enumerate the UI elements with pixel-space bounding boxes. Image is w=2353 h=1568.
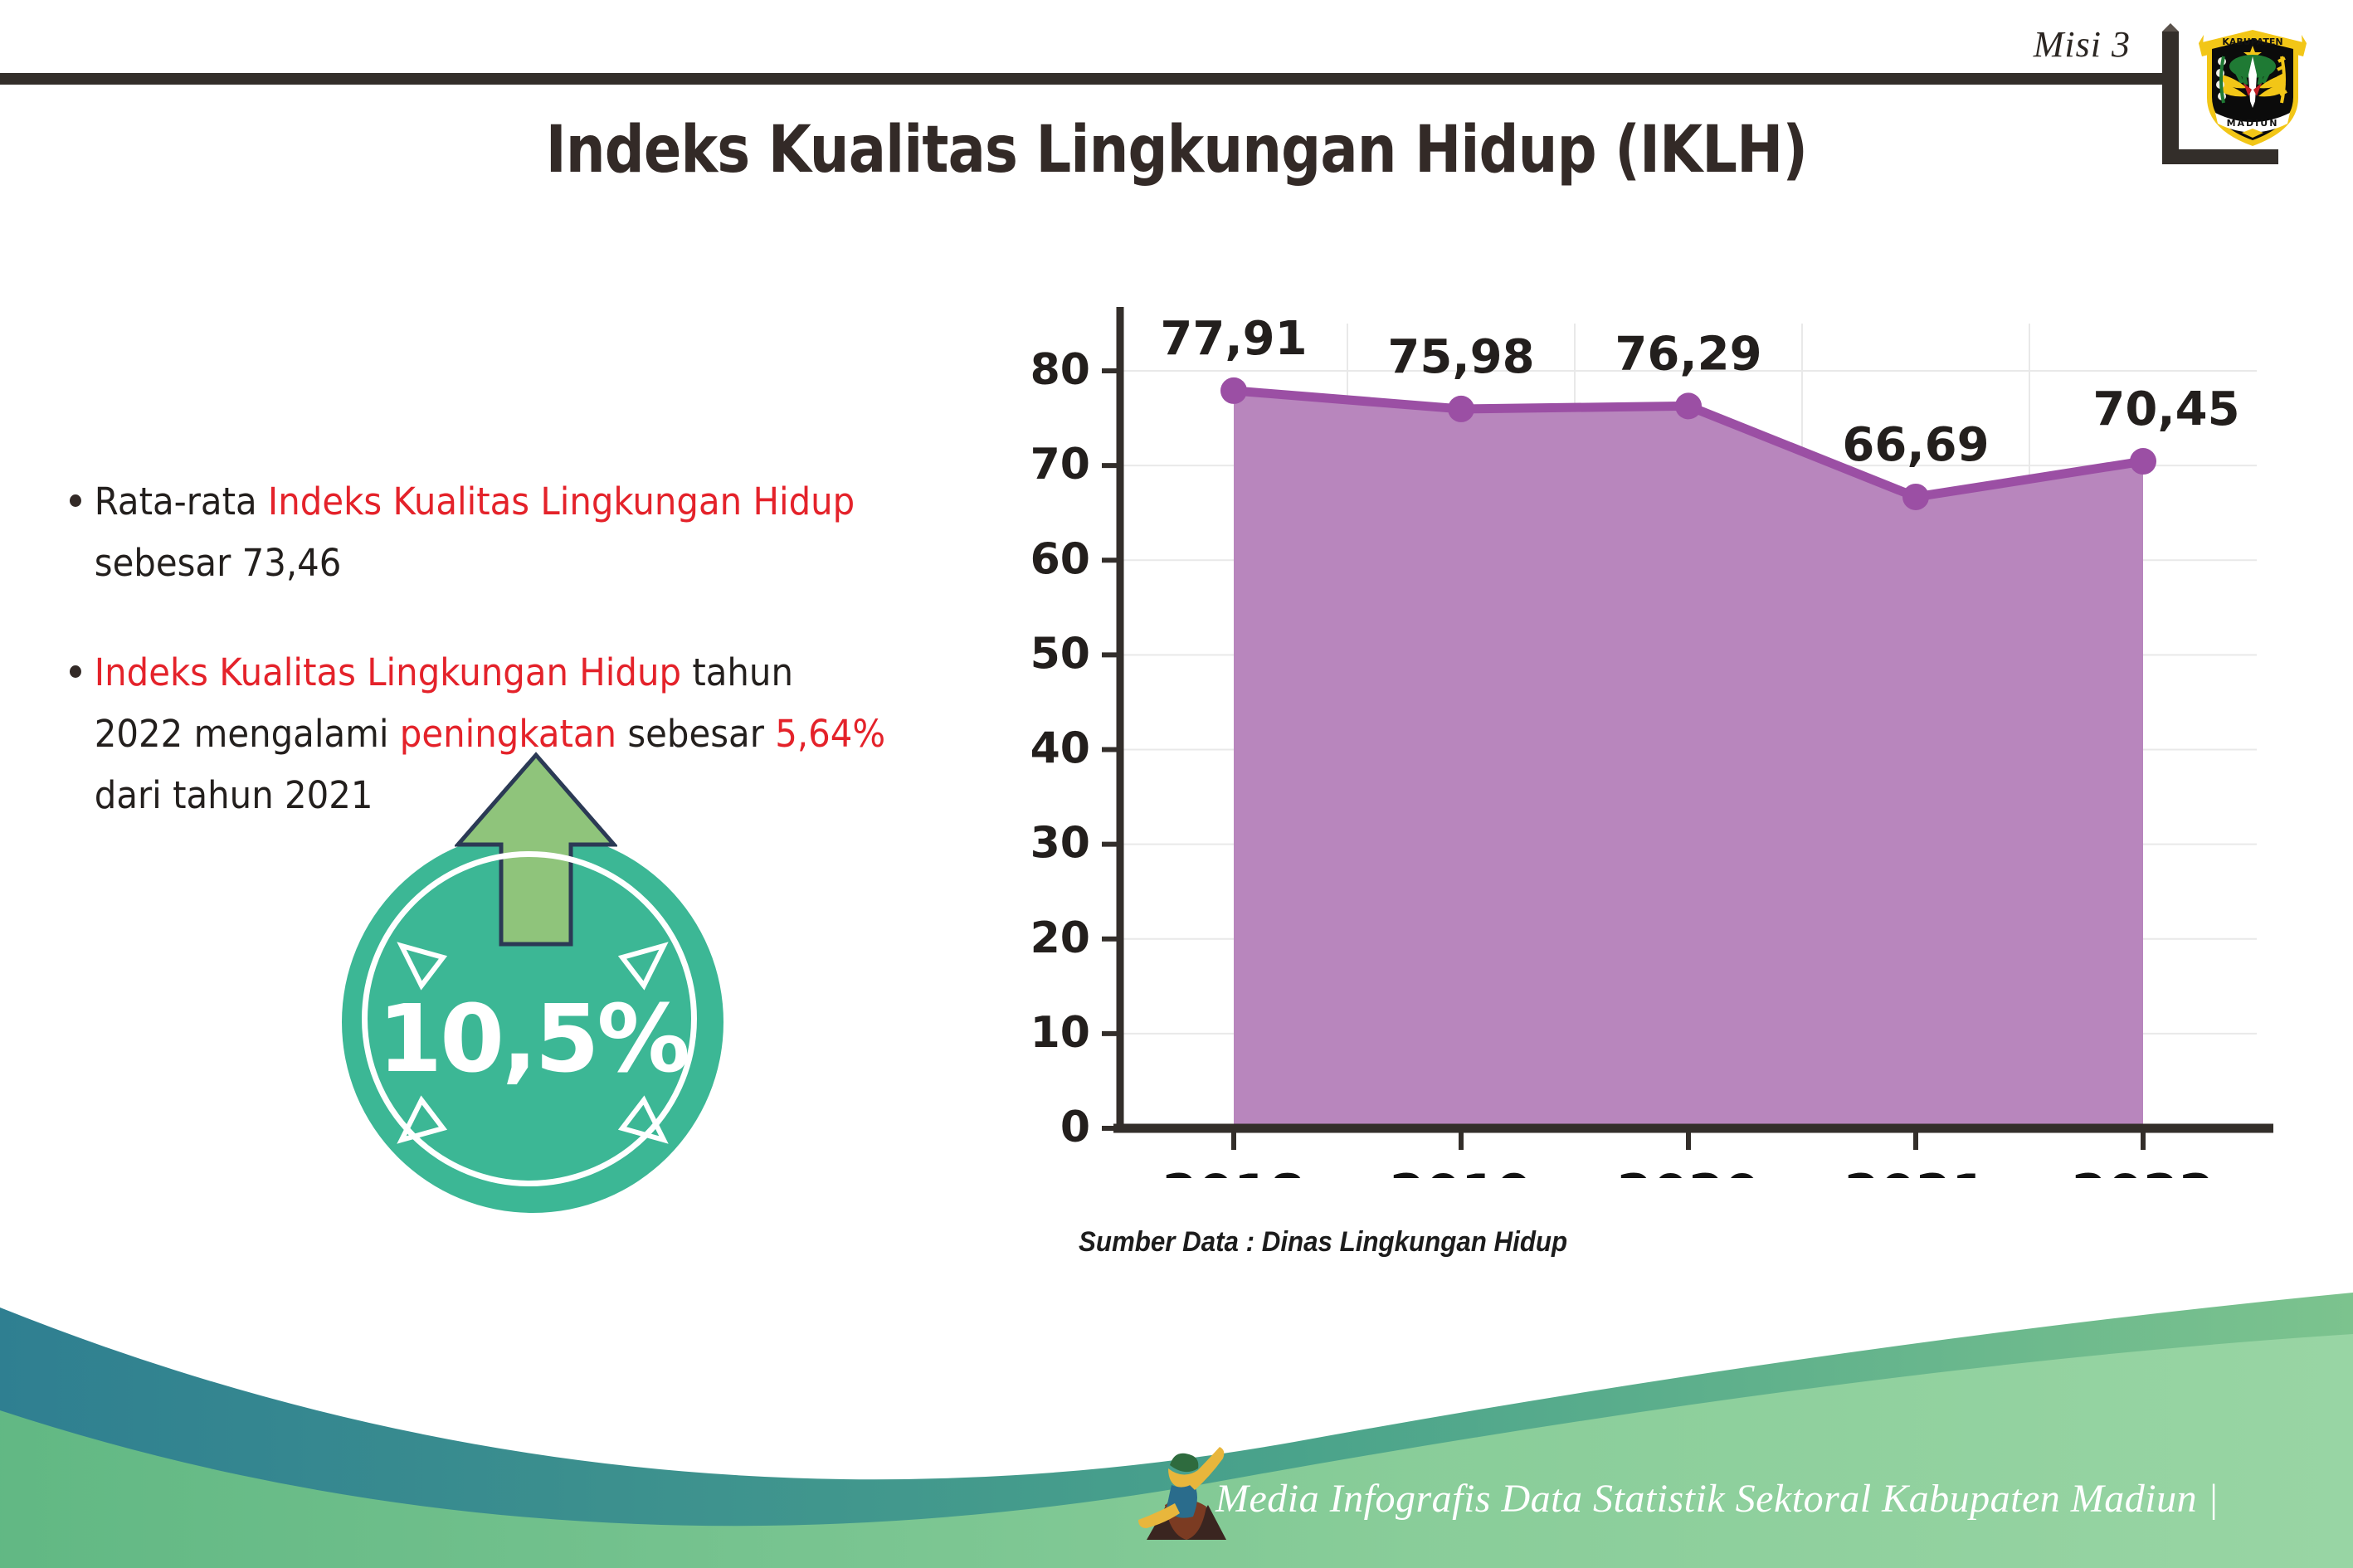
- bullet-dot-icon: [70, 494, 81, 507]
- x-tick-label: 2019: [1390, 1163, 1533, 1178]
- data-point-marker: [1220, 377, 1247, 404]
- y-tick-label: 0: [1060, 1103, 1090, 1152]
- footer-brand-text: Media Infografis Data Statistik Sektoral…: [1215, 1476, 2219, 1522]
- bullet-seg-highlight: Indeks Kualitas Lingkungan Hidup: [268, 480, 855, 523]
- kabupaten-madiun-crest-icon: KABUPATEN MADIUN: [2190, 15, 2315, 152]
- bullet-seg-highlight: Indeks Kualitas Lingkungan Hidup: [95, 650, 681, 694]
- chart-source-note: Sumber Data : Dinas Lingkungan Hidup: [1079, 1226, 1567, 1259]
- data-label: 75,98: [1387, 330, 1534, 384]
- data-label: 70,45: [2092, 382, 2239, 436]
- data-point-marker: [1675, 392, 1702, 419]
- chart-x-tick-labels: 20182019202020212022: [1162, 1163, 2215, 1178]
- data-label: 76,29: [1615, 327, 1761, 381]
- y-tick-label: 20: [1030, 913, 1090, 963]
- area-fill: [1234, 391, 2143, 1128]
- x-tick-label: 2020: [1617, 1163, 1761, 1178]
- data-point-marker: [1448, 396, 1474, 422]
- svg-text:MADIUN: MADIUN: [2227, 118, 2279, 129]
- header-rule: [0, 73, 2174, 85]
- y-tick-label: 60: [1030, 534, 1090, 584]
- y-tick-label: 80: [1030, 345, 1090, 395]
- chart-area-series: [1234, 391, 2143, 1128]
- bullet-seg-highlight: 5,64%: [775, 712, 885, 756]
- y-tick-label: 30: [1030, 819, 1090, 869]
- y-tick-label: 70: [1030, 440, 1090, 489]
- data-point-marker: [1902, 484, 1929, 510]
- data-label: 77,91: [1160, 312, 1307, 366]
- bullet-item: Rata-rata Indeks Kualitas Lingkungan Hid…: [70, 471, 888, 594]
- chart-y-tick-labels: 01020304050607080: [1030, 345, 1090, 1152]
- y-tick-label: 10: [1030, 1008, 1090, 1058]
- increase-badge: 10,5%: [329, 752, 743, 1191]
- bullet-seg: sebesar 73,46: [95, 541, 342, 585]
- bullet-text-1: Rata-rata Indeks Kualitas Lingkungan Hid…: [95, 480, 855, 585]
- iklh-area-chart: 01020304050607080 20182019202020212022 7…: [979, 299, 2273, 1178]
- mission-label: Misi 3: [2034, 23, 2131, 66]
- data-label: 66,69: [1842, 418, 1989, 472]
- bullet-seg: Rata-rata: [95, 480, 268, 523]
- y-tick-label: 40: [1030, 724, 1090, 774]
- bullet-seg-highlight: peningkatan: [400, 712, 616, 756]
- x-tick-label: 2021: [1844, 1163, 1988, 1178]
- data-point-marker: [2130, 448, 2156, 475]
- x-tick-label: 2018: [1162, 1163, 1306, 1178]
- page-title: Indeks Kualitas Lingkungan Hidup (IKLH): [165, 113, 2189, 187]
- bullet-seg: sebesar: [616, 712, 775, 756]
- chart-canvas: 01020304050607080 20182019202020212022 7…: [979, 299, 2273, 1178]
- bullet-dot-icon: [70, 665, 81, 678]
- badge-value: 10,5%: [342, 986, 723, 1093]
- y-tick-label: 50: [1030, 629, 1090, 679]
- x-tick-label: 2022: [2072, 1163, 2215, 1178]
